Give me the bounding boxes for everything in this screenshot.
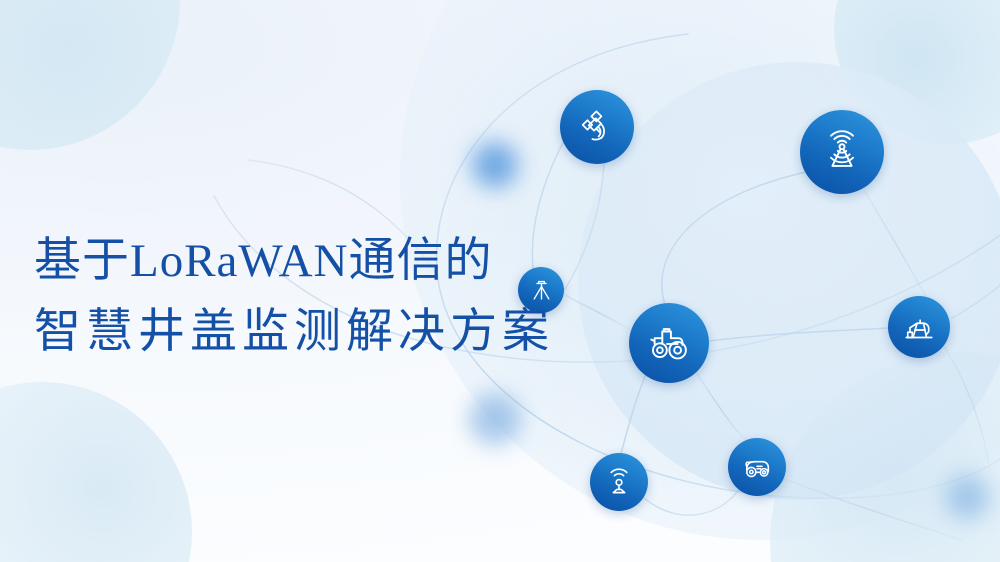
node-oil-pumpjack[interactable] [888,296,950,358]
harvester-icon [740,450,774,484]
soft-dot-lower [469,393,521,445]
soft-dot-upper [472,142,518,188]
slide-headline: 基于LoRaWAN通信的 智慧井盖监测解决方案 [34,226,594,367]
node-satellite[interactable] [560,90,634,164]
headline-line-2: 智慧井盖监测解决方案 [34,297,594,368]
node-harvester[interactable] [728,438,786,496]
signal-sensor-icon [602,465,636,499]
node-radio-tower[interactable] [800,110,884,194]
soft-dot-right [945,475,989,519]
tractor-icon [646,320,692,366]
node-signal-sensor[interactable] [590,453,648,511]
headline-line-1: 基于LoRaWAN通信的 [34,226,594,297]
radio-tower-icon [819,129,865,175]
slide-root: 基于LoRaWAN通信的 智慧井盖监测解决方案 [0,0,1000,562]
oil-pumpjack-icon [901,309,937,345]
satellite-icon [577,107,617,147]
node-tractor[interactable] [629,303,709,383]
